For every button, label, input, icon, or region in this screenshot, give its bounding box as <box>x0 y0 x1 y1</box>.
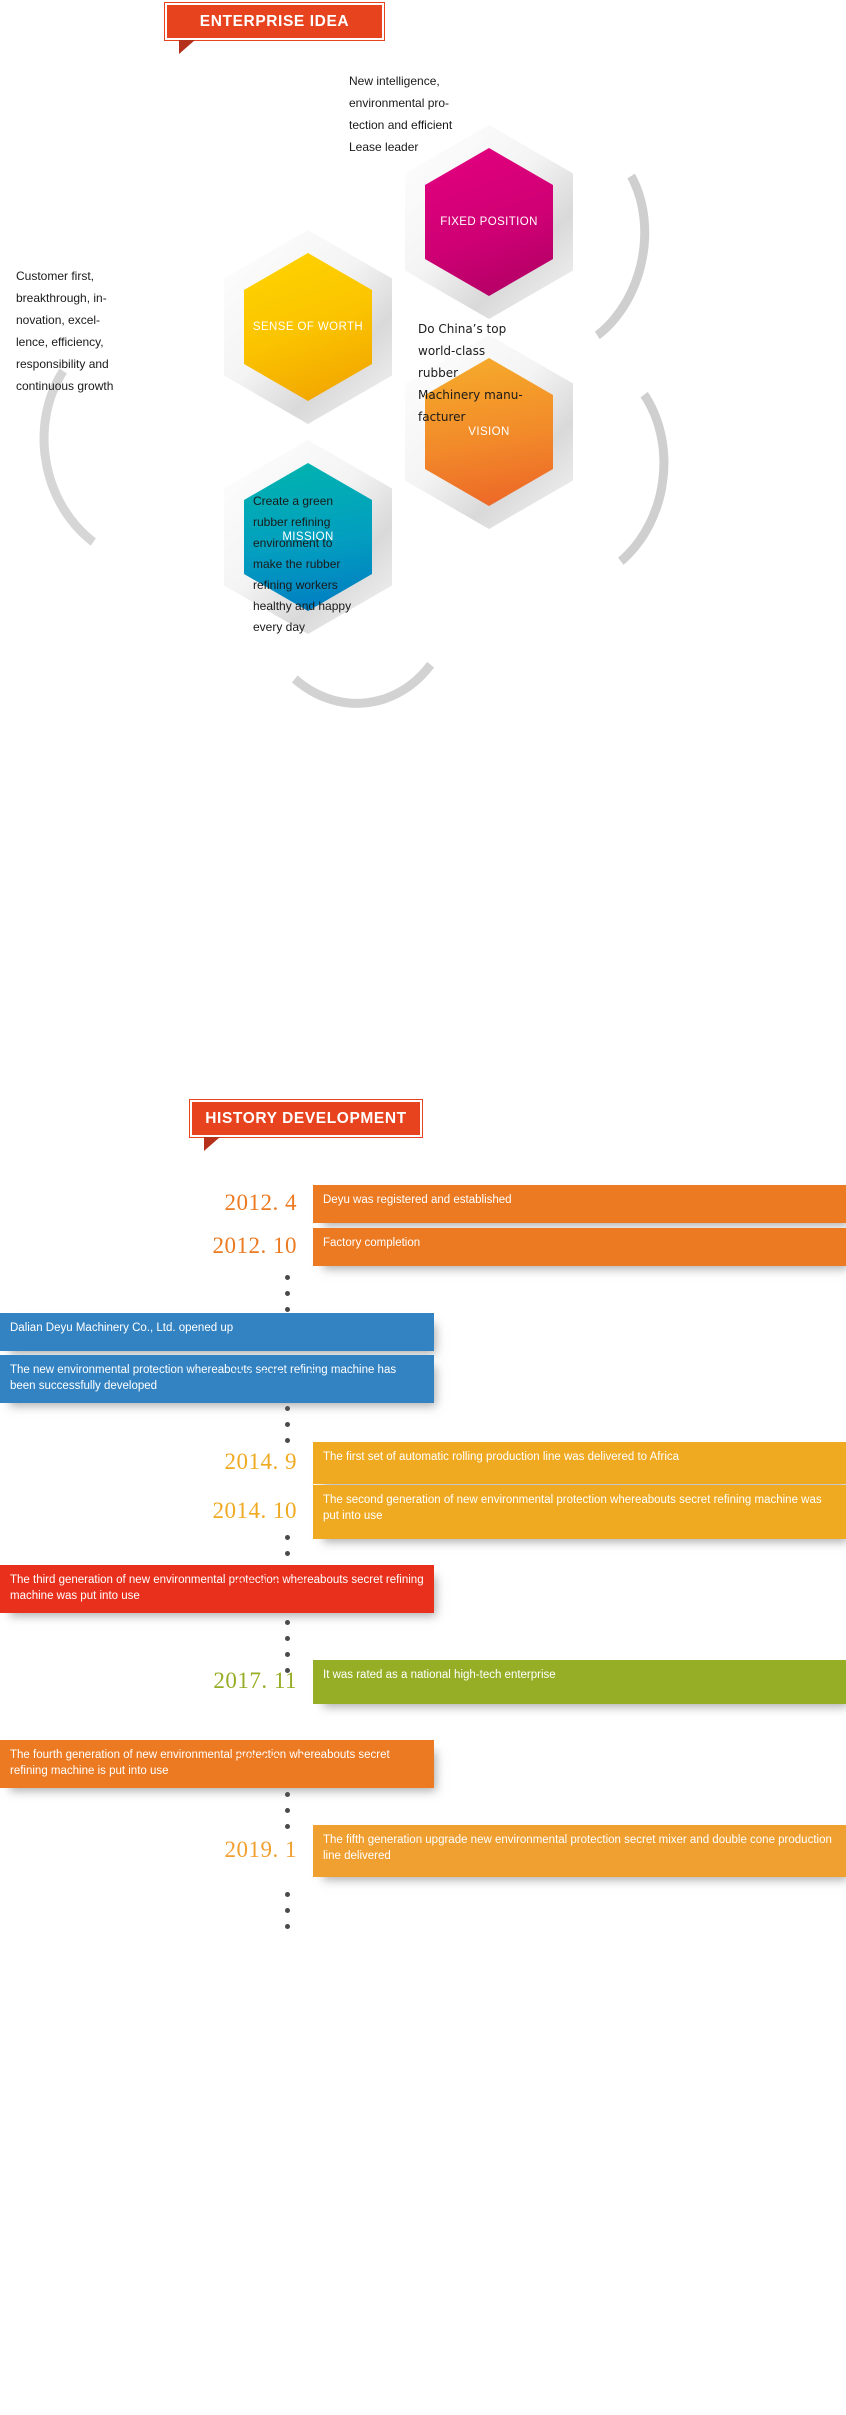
callout-line: responsibility and <box>16 353 186 375</box>
enterprise-idea-diagram: FIXED POSITION SENSE OF WORTH VISION MIS… <box>0 120 846 640</box>
timeline-event-date: 2012. 4 <box>225 1190 298 1216</box>
timeline-event-card[interactable]: The fourth generation of new environment… <box>0 1740 434 1788</box>
callout-line: continuous growth <box>16 375 186 397</box>
timeline-event-card[interactable]: The second generation of new environment… <box>313 1485 846 1539</box>
timeline-event-card[interactable]: Factory completion <box>313 1228 846 1266</box>
timeline-event-card[interactable]: The fifth generation upgrade new environ… <box>313 1825 846 1877</box>
callout-line: lence, efficiency, <box>16 331 186 353</box>
callout-line: facturer <box>418 406 593 428</box>
timeline-dot <box>285 1824 290 1829</box>
callout-line: Customer first, <box>16 265 186 287</box>
timeline-event-date: 2013. 10 <box>234 1365 319 1391</box>
callout-line: every day <box>253 617 428 638</box>
timeline-event-card[interactable]: Dalian Deyu Machinery Co., Ltd. opened u… <box>0 1313 434 1351</box>
timeline-event-date: 2019. 1 <box>225 1837 298 1863</box>
timeline-dot <box>285 1908 290 1913</box>
timeline-event-card[interactable]: The first set of automatic rolling produ… <box>313 1442 846 1484</box>
history-development-banner: HISTORY DEVELOPMENT <box>190 1100 422 1137</box>
callout-line: environment to <box>253 533 428 554</box>
timeline-event-date: 2014. 10 <box>213 1498 298 1524</box>
banner-title: ENTERPRISE IDEA <box>200 13 349 31</box>
timeline-event-date: 2014. 9 <box>225 1449 298 1475</box>
timeline-event-date: 2012. 10 <box>213 1233 298 1259</box>
timeline-event-card[interactable]: The third generation of new environmenta… <box>0 1565 434 1613</box>
callout-mission: Create a green rubber refining environme… <box>253 491 428 638</box>
callout-line: Machinery manu- <box>418 384 593 406</box>
callout-line: world-class <box>418 340 593 362</box>
timeline-dot <box>285 1652 290 1657</box>
timeline-event-card[interactable]: Deyu was registered and established <box>313 1185 846 1223</box>
callout-line: environmental pro- <box>349 92 529 114</box>
timeline-dot <box>285 1792 290 1797</box>
callout-line: tection and efficient <box>349 114 529 136</box>
timeline-dot <box>285 1422 290 1427</box>
timeline-dot <box>285 1291 290 1296</box>
timeline-dot <box>285 1307 290 1312</box>
timeline-dots <box>283 1792 291 1840</box>
callout-line: Do China’s top <box>418 318 593 340</box>
callout-line: make the rubber <box>253 554 428 575</box>
timeline-dot <box>285 1924 290 1929</box>
timeline-dot <box>285 1406 290 1411</box>
timeline-dot <box>285 1438 290 1443</box>
callout-line: breakthrough, in- <box>16 287 186 309</box>
timeline-dots <box>283 1406 291 1454</box>
banner-plate: HISTORY DEVELOPMENT <box>190 1100 422 1137</box>
timeline-dot <box>285 1535 290 1540</box>
timeline-dots <box>283 1892 291 1940</box>
timeline-dot <box>285 1275 290 1280</box>
banner-plate: ENTERPRISE IDEA <box>165 3 384 40</box>
ribbon-fold-icon <box>179 40 195 54</box>
callout-line: refining workers <box>253 575 428 596</box>
timeline-dot <box>285 1808 290 1813</box>
callout-line: Create a green <box>253 491 428 512</box>
banner-title: HISTORY DEVELOPMENT <box>205 1110 406 1128</box>
callout-line: novation, excel- <box>16 309 186 331</box>
callout-sense-of-worth: Customer first, breakthrough, in- novati… <box>16 265 186 397</box>
ribbon-fold-icon <box>204 1137 220 1151</box>
callout-vision: Do China’s top world-class rubber Machin… <box>418 318 593 428</box>
timeline-dot <box>285 1892 290 1897</box>
enterprise-idea-banner: ENTERPRISE IDEA <box>165 3 384 40</box>
callout-line: rubber refining <box>253 512 428 533</box>
timeline-event-card[interactable]: It was rated as a national high-tech ent… <box>313 1660 846 1704</box>
timeline-event-card[interactable]: The new environmental protection whereab… <box>0 1355 434 1403</box>
timeline-dot <box>285 1620 290 1625</box>
timeline-event-date: 2017. 11 <box>213 1668 297 1694</box>
timeline-event-date: 2018. 4 <box>234 1750 307 1776</box>
timeline-event-date: 2013. 8. 5 <box>234 1318 331 1344</box>
callout-line: New intelligence, <box>349 70 529 92</box>
callout-line: Lease leader <box>349 136 529 158</box>
timeline-dot <box>285 1551 290 1556</box>
timeline-dot <box>285 1636 290 1641</box>
timeline-event-date: 2016. 6 <box>234 1575 307 1601</box>
callout-line: rubber <box>418 362 593 384</box>
callout-line: healthy and happy <box>253 596 428 617</box>
callout-fixed-position: New intelligence, environmental pro- tec… <box>349 70 529 158</box>
